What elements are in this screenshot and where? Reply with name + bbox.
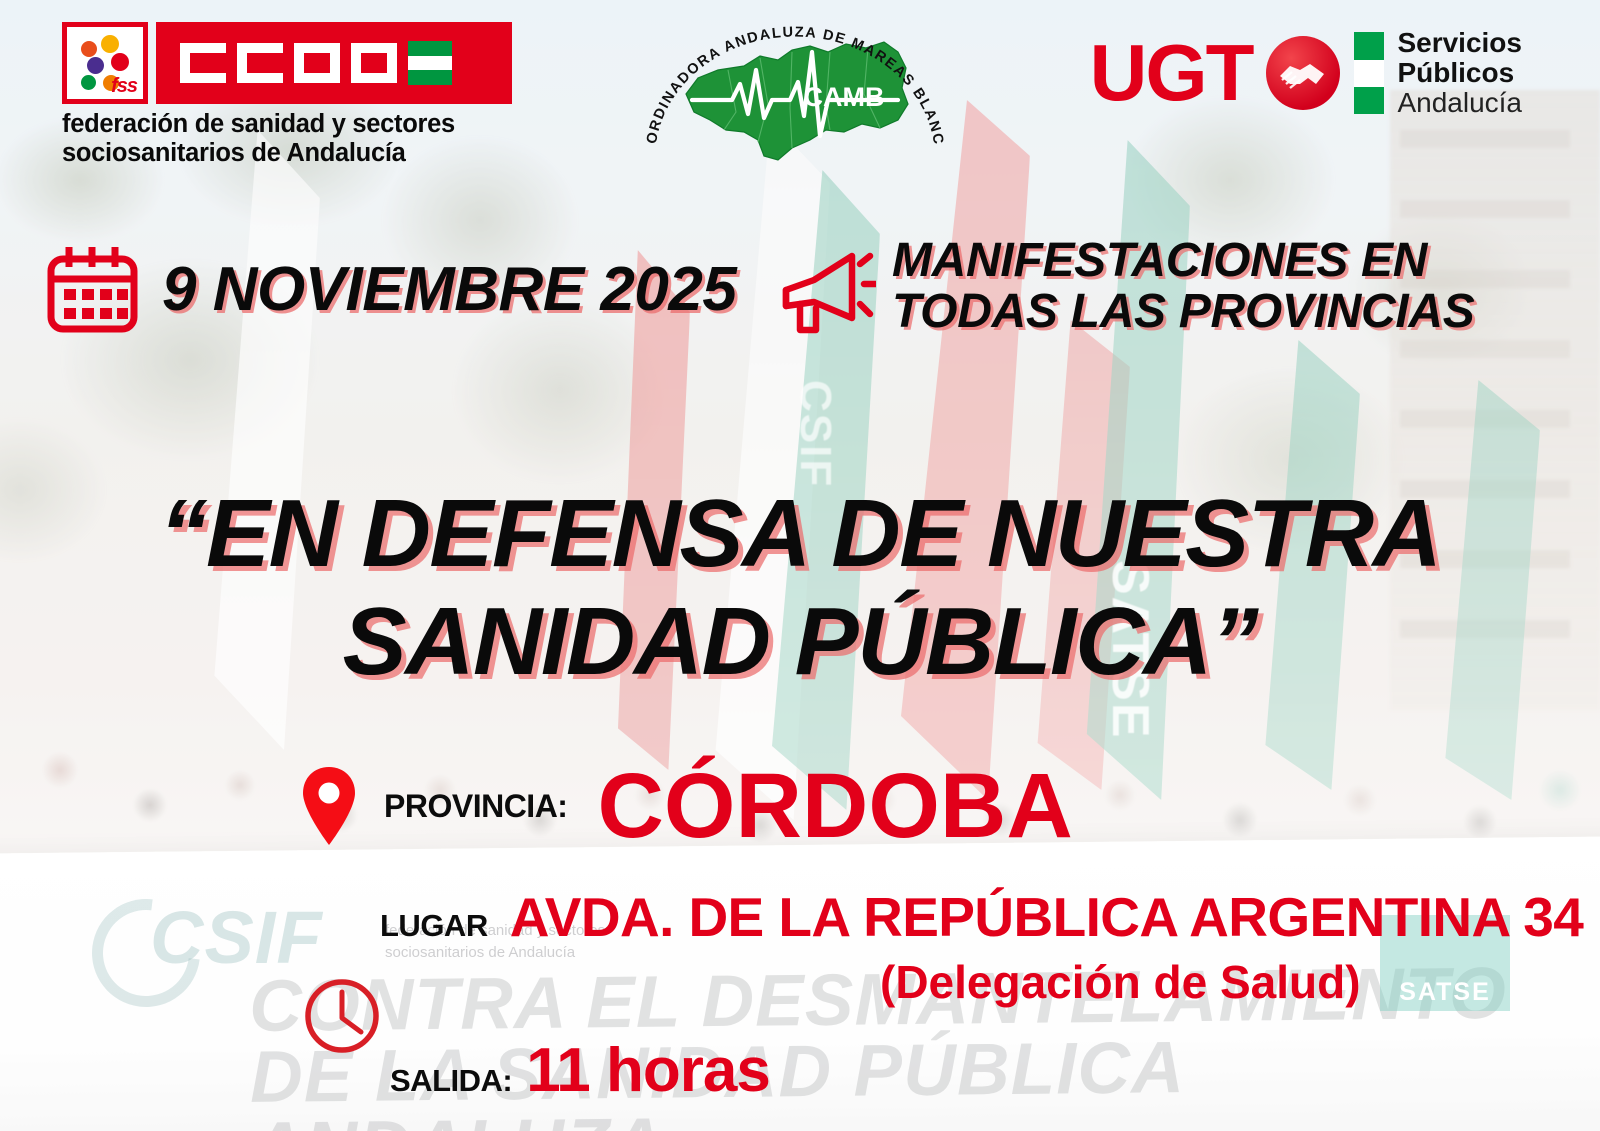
ccoo-glyph-o [294,43,340,83]
departure-label: SALIDA: [390,1063,512,1099]
servicios-publicos-logo: Servicios Públicos Andalucía [1354,28,1522,119]
calendar-icon [45,243,140,335]
protest-poster: SATSE CSIF CSIF federación de sanidad y … [0,0,1600,1131]
departure-row: SALIDA: 11 horas [390,1043,770,1099]
ugt-service-line3: Andalucía [1397,88,1522,118]
ccoo-subtitle-line1: federación de sanidad y sectores [62,110,512,139]
ccoo-subtitle-line2: sociosanitarios de Andalucía [62,139,512,168]
servicios-publicos-text: Servicios Públicos Andalucía [1397,28,1522,119]
ccoo-glyph-o [351,43,397,83]
event-date: 9 NOVIEMBRE 2025 [45,243,736,335]
province-label: PROVINCIA: [384,788,567,825]
ccoo-logo: fss federación de sanidad y sectores soc… [62,22,512,168]
ugt-service-line1: Servicios [1397,28,1522,58]
clock-icon [303,972,381,1058]
camb-logo: CAMB COORDINADORA ANDALUZA DE MAREAS BLA… [640,8,950,183]
ccoo-wordmark [156,22,512,104]
andalusia-flag-icon [1354,32,1384,114]
megaphone-icon [770,244,876,344]
main-slogan: “EN DEFENSA DE NUESTRA SANIDAD PÚBLICA” [0,480,1600,697]
handshake-icon [1266,36,1340,110]
ccoo-glyph-c [180,43,226,83]
ugt-logo: UGT Servicios Públicos Andalucía [1090,28,1522,119]
venue-detail: (Delegación de Salud) [880,955,1361,1009]
ccoo-glyph-c [237,43,283,83]
venue-label: LUGAR [380,908,488,944]
announcement: MANIFESTACIONES EN TODAS LAS PROVINCIAS [770,236,1475,344]
camb-acronym: CAMB [804,82,885,112]
andalusia-flag-icon [408,41,452,85]
fss-mark: fss [62,22,148,104]
poster-content: fss federación de sanidad y sectores soc… [0,0,1600,1131]
venue-address: AVDA. DE LA REPÚBLICA ARGENTINA 34 [510,885,1584,949]
province-name: CÓRDOBA [597,760,1072,852]
camb-logo-graphic: CAMB COORDINADORA ANDALUZA DE MAREAS BLA… [640,8,950,183]
announcement-text: MANIFESTACIONES EN TODAS LAS PROVINCIAS [892,236,1475,338]
fss-label: fss [111,75,137,98]
event-date-text: 9 NOVIEMBRE 2025 [162,254,736,325]
province-row: PROVINCIA: CÓRDOBA [300,760,1073,852]
ccoo-subtitle: federación de sanidad y sectores sociosa… [62,110,512,168]
map-pin-icon [300,765,358,847]
ugt-service-line2: Públicos [1397,58,1522,88]
departure-time: 11 horas [526,1043,770,1099]
ugt-wordmark: UGT [1090,41,1253,105]
venue-row: LUGAR AVDA. DE LA REPÚBLICA ARGENTINA 34 [380,885,1583,949]
ccoo-logo-row: fss [62,22,512,104]
